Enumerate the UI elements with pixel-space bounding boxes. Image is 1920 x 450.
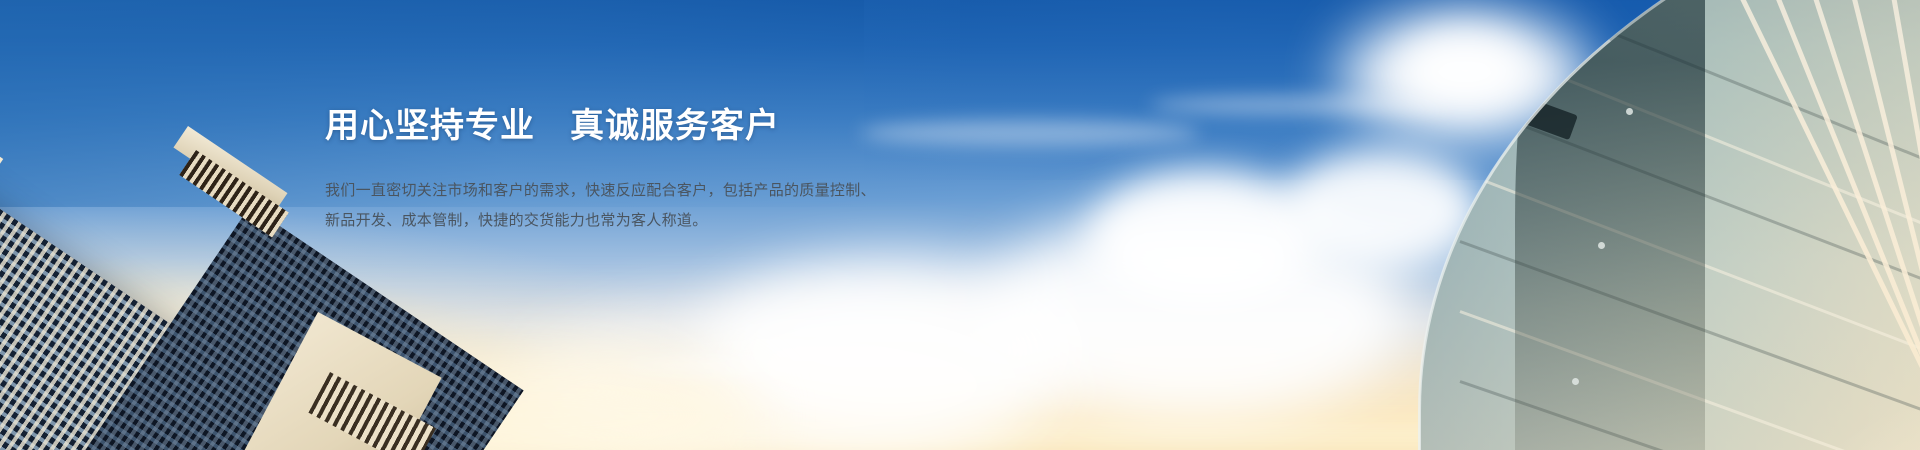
facade-light-dot: [1572, 378, 1579, 385]
cloud-streak-low: [620, 355, 1040, 377]
subcopy-line-2: 新品开发、成本管制，快捷的交货能力也常为客人称道。: [325, 206, 945, 236]
facade-mullion: [1700, 0, 1920, 450]
subcopy-line-1: 我们一直密切关注市场和客户的需求，快速反应配合客户，包括产品的质量控制、: [325, 176, 945, 206]
banner-copy-block: 用心坚持专业 真诚服务客户 我们一直密切关注市场和客户的需求，快速反应配合客户，…: [325, 106, 945, 236]
facade-light-dot: [1598, 242, 1605, 249]
right-glass-tower-facade: [1420, 0, 1920, 450]
facade-recessed-band: [1515, 0, 1705, 450]
hero-banner: 用心坚持专业 真诚服务客户 我们一直密切关注市场和客户的需求，快速反应配合客户，…: [0, 0, 1920, 450]
right-glass-tower: [1360, 0, 1920, 450]
facade-light-dot: [1626, 108, 1633, 115]
page-title: 用心坚持专业 真诚服务客户: [325, 106, 945, 146]
banner-subcopy: 我们一直密切关注市场和客户的需求，快速反应配合客户，包括产品的质量控制、 新品开…: [325, 176, 945, 236]
